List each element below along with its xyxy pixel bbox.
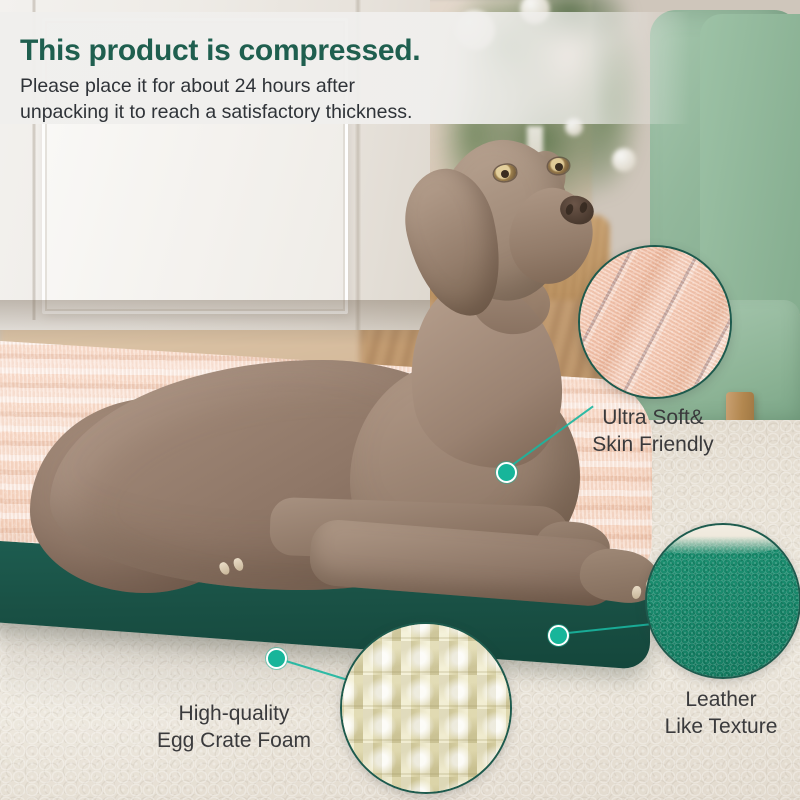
callout-label-leather: Leather Like Texture — [635, 686, 800, 740]
callout-bubble-ultra-soft[interactable] — [578, 245, 732, 399]
callout-label-ultra-soft: Ultra Soft& Skin Friendly — [563, 404, 743, 458]
plush-fur-texture — [578, 245, 732, 399]
dog-pupil-left — [501, 170, 509, 178]
callout-bubble-leather[interactable] — [645, 523, 800, 679]
foam-wave-shading — [340, 622, 512, 794]
dog-pupil-right — [555, 163, 563, 171]
callout-label-egg-crate-foam: High-quality Egg Crate Foam — [122, 700, 346, 754]
callout-dot-egg-crate-foam — [266, 648, 287, 669]
compression-notice-banner: This product is compressed. Please place… — [0, 12, 690, 124]
product-infographic: This product is compressed. Please place… — [0, 0, 800, 800]
callout-dot-ultra-soft — [496, 462, 517, 483]
dog-weimaraner — [20, 110, 660, 630]
callout-dot-leather — [548, 625, 569, 646]
callout-bubble-egg-crate-foam[interactable] — [340, 622, 512, 794]
banner-title: This product is compressed. — [20, 34, 420, 68]
banner-subtitle: Please place it for about 24 hours after… — [20, 73, 412, 125]
